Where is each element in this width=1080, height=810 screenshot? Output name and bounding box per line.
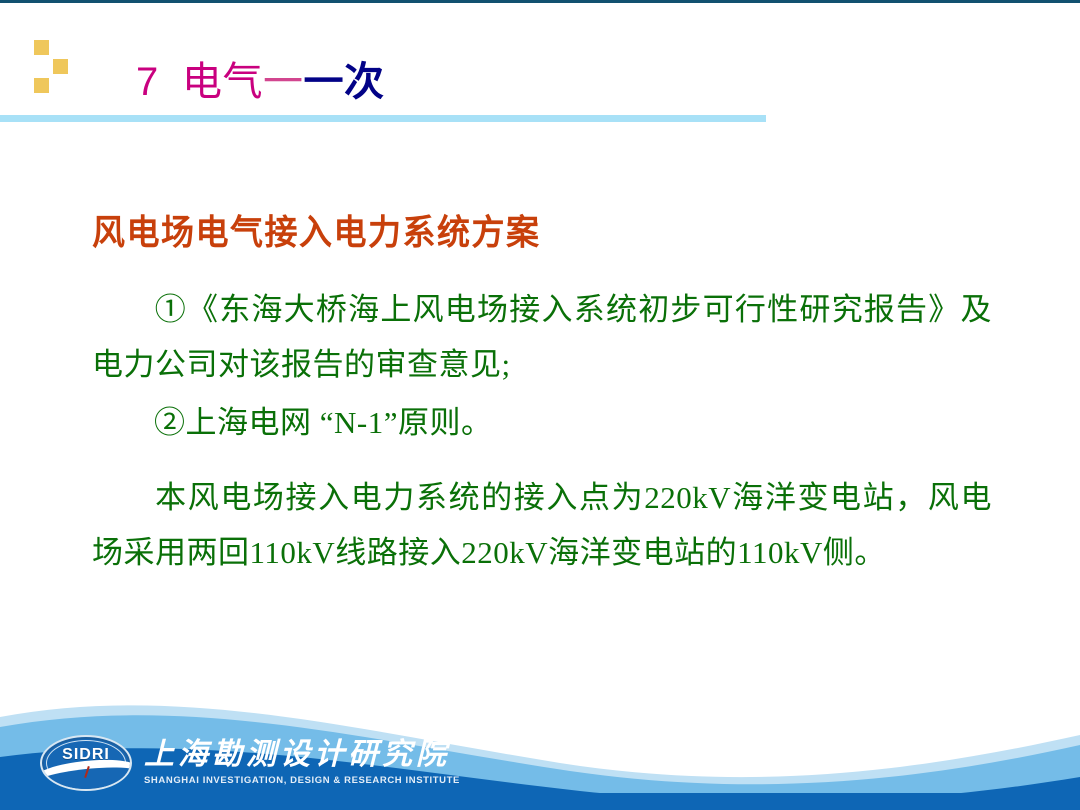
brand-name-cn: 上海勘测设计研究院 [144, 740, 460, 770]
paragraph-1: ①《东海大桥海上风电场接入系统初步可行性研究报告》及电力公司对该报告的审查意见; [92, 282, 992, 392]
footer-brand: SIDRI 上海勘测设计研究院 SHANGHAI INVESTIGATION, … [40, 734, 460, 792]
square-3 [34, 78, 49, 93]
title-part-2: 一 [263, 60, 304, 104]
title-part-3: 一次 [303, 60, 384, 104]
paragraph-3-text: 本风电场接入电力系统的接入点为220kV海洋变电站，风电场采用两回110kV线路… [92, 480, 992, 570]
brand-name-en: SHANGHAI INVESTIGATION, DESIGN & RESEARC… [144, 776, 460, 786]
paragraph-2: ②上海电网 “N-1”原则。 [92, 395, 992, 450]
slide-header: 7 电气一一次 [0, 14, 1080, 106]
paragraph-2-text: ②上海电网 “N-1”原则。 [154, 405, 492, 440]
top-divider [0, 0, 1080, 3]
sidri-logo-icon: SIDRI [40, 735, 132, 791]
slide-footer: SIDRI 上海勘测设计研究院 SHANGHAI INVESTIGATION, … [0, 665, 1080, 810]
paragraph-1-text: ①《东海大桥海上风电场接入系统初步可行性研究报告》及电力公司对该报告的审查意见; [92, 292, 992, 382]
title-part-1: 7 电气 [136, 60, 263, 104]
page-title: 7 电气一一次 [136, 58, 384, 106]
square-2 [53, 59, 68, 74]
content-heading: 风电场电气接入电力系统方案 [92, 214, 541, 254]
slide-canvas: 7 电气一一次 风电场电气接入电力系统方案 ①《东海大桥海上风电场接入系统初步可… [0, 0, 1080, 810]
footer-band [0, 793, 1080, 810]
paragraph-3: 本风电场接入电力系统的接入点为220kV海洋变电站，风电场采用两回110kV线路… [92, 470, 992, 580]
slide-body: 风电场电气接入电力系统方案 ①《东海大桥海上风电场接入系统初步可行性研究报告》及… [0, 130, 1080, 670]
title-underline [0, 115, 766, 122]
yellow-squares-icon [34, 40, 82, 92]
brand-text-block: 上海勘测设计研究院 SHANGHAI INVESTIGATION, DESIGN… [144, 740, 460, 786]
square-1 [34, 40, 49, 55]
